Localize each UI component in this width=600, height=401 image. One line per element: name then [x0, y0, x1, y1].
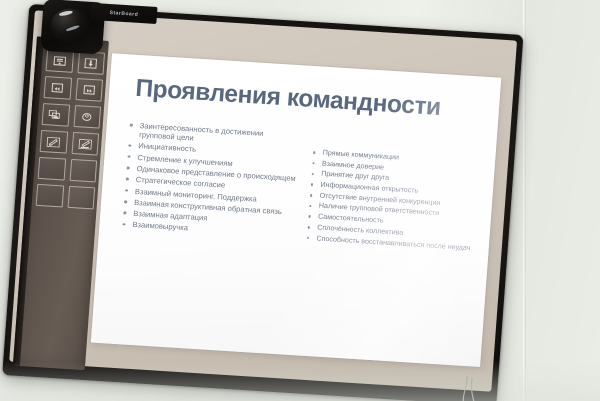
presentation-slide[interactable]: Проявления командности Заинтересованност…: [91, 53, 501, 367]
sidebar-button-eraser[interactable]: [73, 105, 101, 129]
pen-icon: [46, 136, 61, 148]
windows-icon: [48, 109, 63, 121]
highlighter-icon: [78, 138, 93, 150]
sidebar-button-blank-4[interactable]: [67, 186, 95, 210]
sidebar-button-previous-page[interactable]: [44, 76, 72, 100]
slide-column-left: Заинтересованность в достижении группово…: [121, 120, 300, 243]
sidebar-button-blank-1[interactable]: [38, 157, 66, 181]
sidebar-button-highlighter[interactable]: [71, 132, 99, 156]
screen-capture-icon: [53, 55, 67, 67]
sidebar-button-save[interactable]: [77, 51, 105, 75]
sidebar-button-blank-3[interactable]: [36, 184, 64, 208]
slide-title: Проявления командности: [134, 75, 441, 122]
floor-shading: [0, 361, 600, 401]
sidebar-button-next-page[interactable]: [75, 78, 103, 102]
brand-text: StarBoard: [109, 10, 138, 18]
slide-columns: Заинтересованность в достижении группово…: [121, 120, 485, 254]
bullet-list-right: Прямые коммуникации Взаимное доверие При…: [305, 148, 483, 253]
sidebar-button-switch-window[interactable]: [42, 103, 70, 127]
download-icon: [84, 57, 98, 69]
bullet-list-left: Заинтересованность в достижении группово…: [121, 120, 300, 239]
sidebar-button-pen[interactable]: [40, 130, 68, 154]
previous-page-icon: [50, 82, 65, 94]
sidebar-button-grid: [36, 49, 105, 209]
slide-column-right: Прямые коммуникации Взаимное доверие При…: [305, 132, 484, 255]
eraser-icon: [80, 111, 94, 123]
sidebar-button-screen-capture[interactable]: [46, 49, 74, 73]
sidebar-button-blank-2[interactable]: [69, 159, 97, 183]
whiteboard-assembly: Проявления командности Заинтересованност…: [2, 0, 524, 401]
wall-corner-edge: [523, 0, 526, 401]
next-page-icon: [82, 84, 97, 96]
photo-scene: Проявления командности Заинтересованност…: [0, 0, 600, 401]
